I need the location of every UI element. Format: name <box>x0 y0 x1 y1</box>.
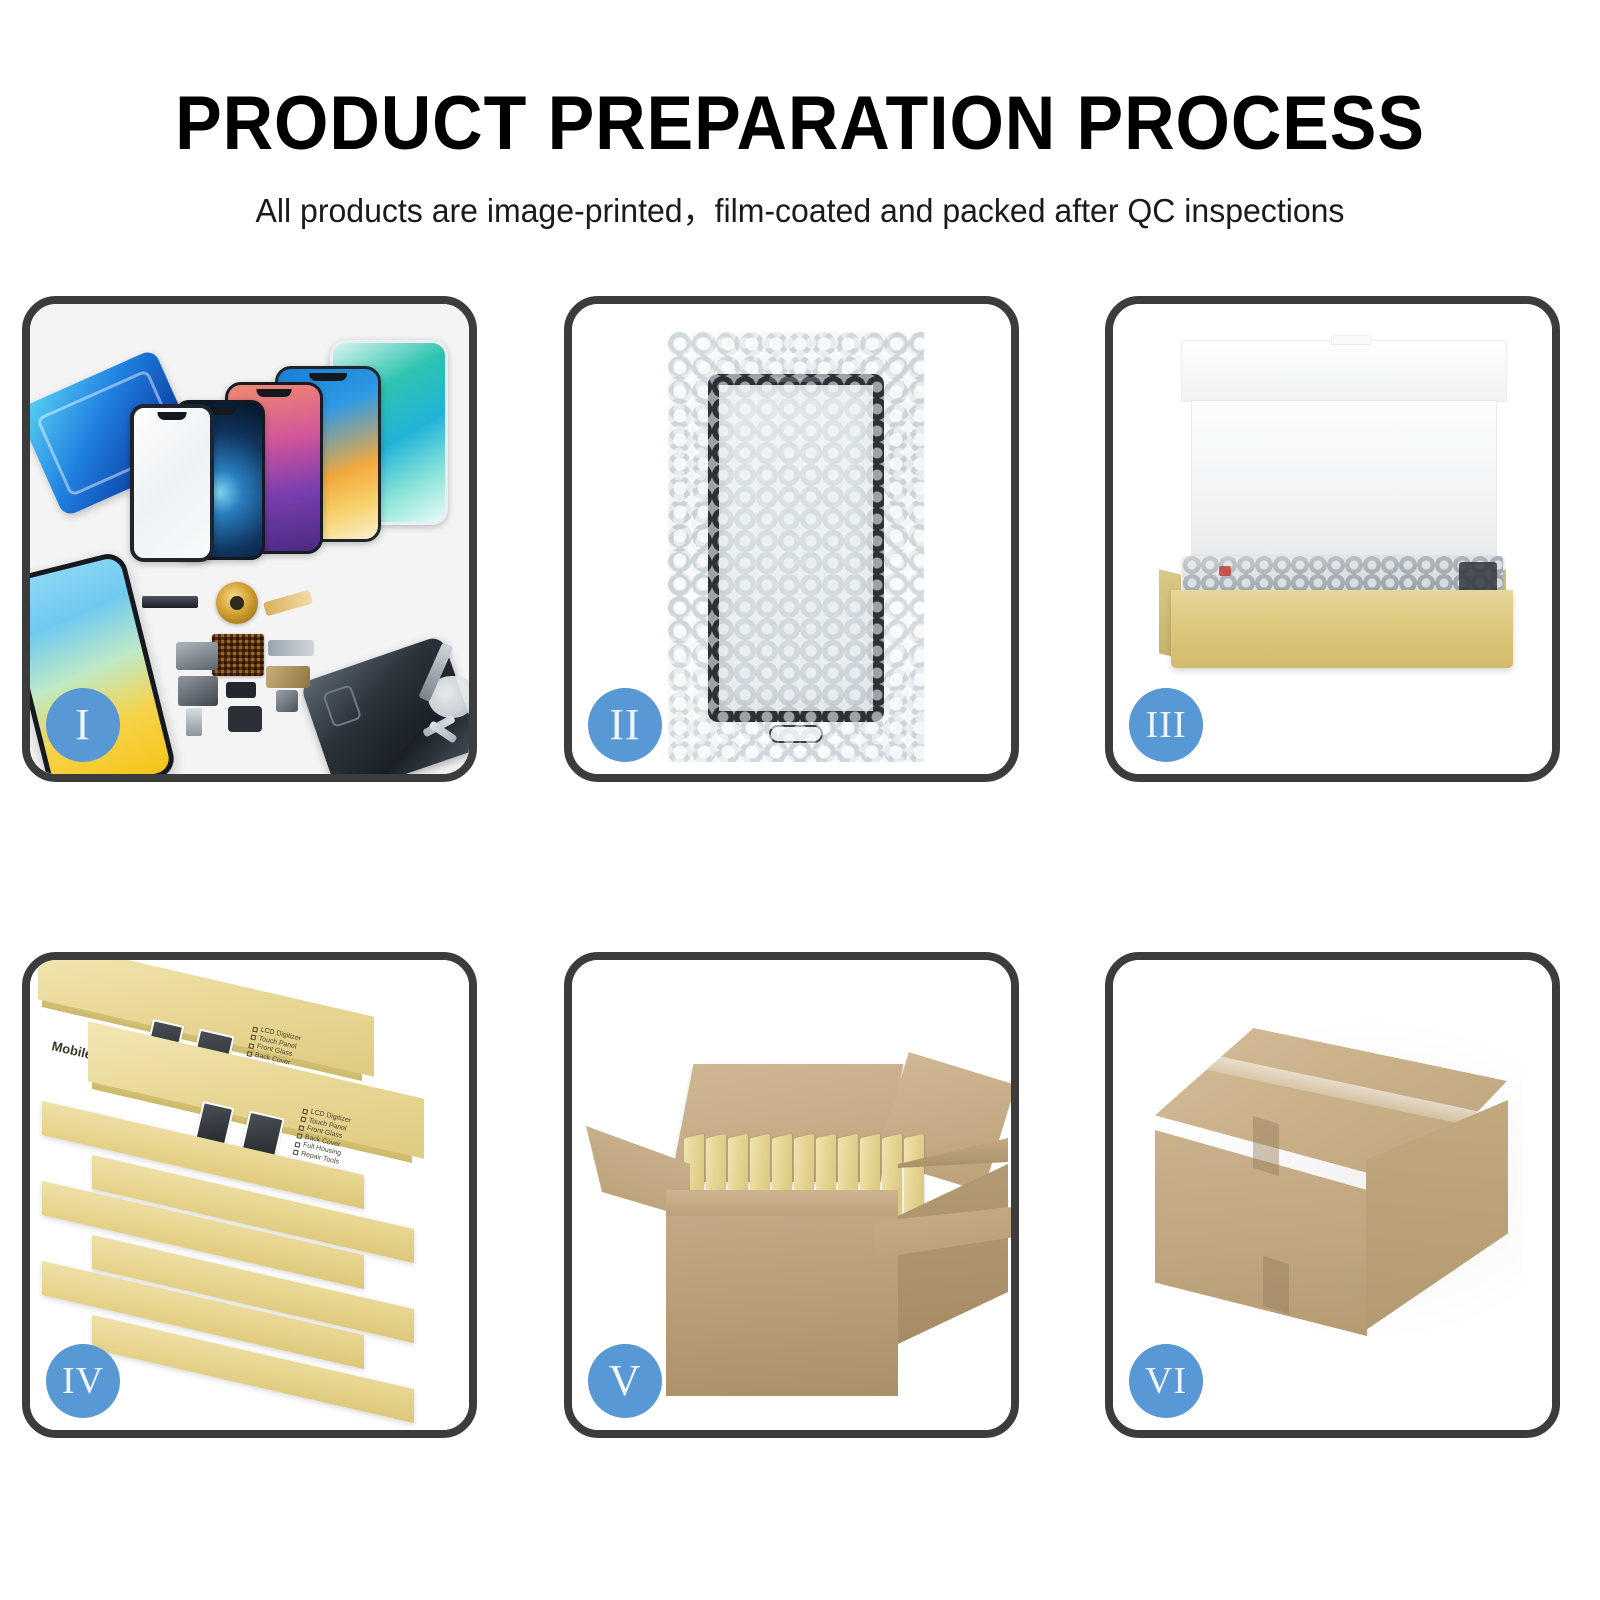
flex-cable-graphic-2 <box>176 642 218 670</box>
speaker-component-graphic <box>216 582 258 624</box>
carton-seam-graphic-2 <box>1263 1256 1289 1314</box>
product-preparation-infographic: PRODUCT PREPARATION PROCESS All products… <box>0 0 1600 1600</box>
process-step-panel-3[interactable]: III <box>1105 296 1560 782</box>
flex-cable-graphic-1 <box>263 590 313 617</box>
mailer-interior-graphic <box>1191 400 1497 560</box>
bubble-wrap-sheet-graphic <box>668 332 924 762</box>
step-badge-5: V <box>588 1344 662 1418</box>
step-badge-6: VI <box>1129 1344 1203 1418</box>
process-step-grid: I II <box>0 0 1600 1600</box>
mailer-lid-graphic <box>1181 340 1507 402</box>
home-button-graphic <box>769 725 823 743</box>
sim-tray-graphic <box>186 708 202 736</box>
small-component-graphic-3 <box>228 706 262 732</box>
step-badge-2: II <box>588 688 662 762</box>
carton-front-panel-graphic <box>666 1216 898 1396</box>
process-step-panel-6[interactable]: VI <box>1105 952 1560 1438</box>
step-badge-1: I <box>46 688 120 762</box>
ic-chip-graphic <box>212 634 264 676</box>
flex-cable-graphic-3 <box>268 640 314 656</box>
earpiece-component-graphic <box>142 596 198 608</box>
step-badge-3: III <box>1129 688 1203 762</box>
step-badge-4: IV <box>46 1344 120 1418</box>
small-component-graphic-2 <box>276 690 298 712</box>
screen-assembly-graphic <box>708 374 884 722</box>
process-step-panel-1[interactable]: I <box>22 296 477 782</box>
front-glass-graphic <box>130 404 214 562</box>
process-step-panel-2[interactable]: II <box>564 296 1019 782</box>
small-component-graphic-1 <box>226 682 256 698</box>
flex-cable-graphic-4 <box>178 676 218 706</box>
flex-cable-graphic-5 <box>266 666 310 688</box>
mailer-front-panel-graphic <box>1171 590 1513 668</box>
process-step-panel-5[interactable]: V <box>564 952 1019 1438</box>
process-step-panel-4[interactable]: Mobile Phone Spare Parts LCD Digitizer T… <box>22 952 477 1438</box>
retail-box-checklist-2: LCD Digitizer Touch Panel Front Glass Ba… <box>292 1107 351 1168</box>
carton-seam-graphic-1 <box>1253 1116 1279 1176</box>
